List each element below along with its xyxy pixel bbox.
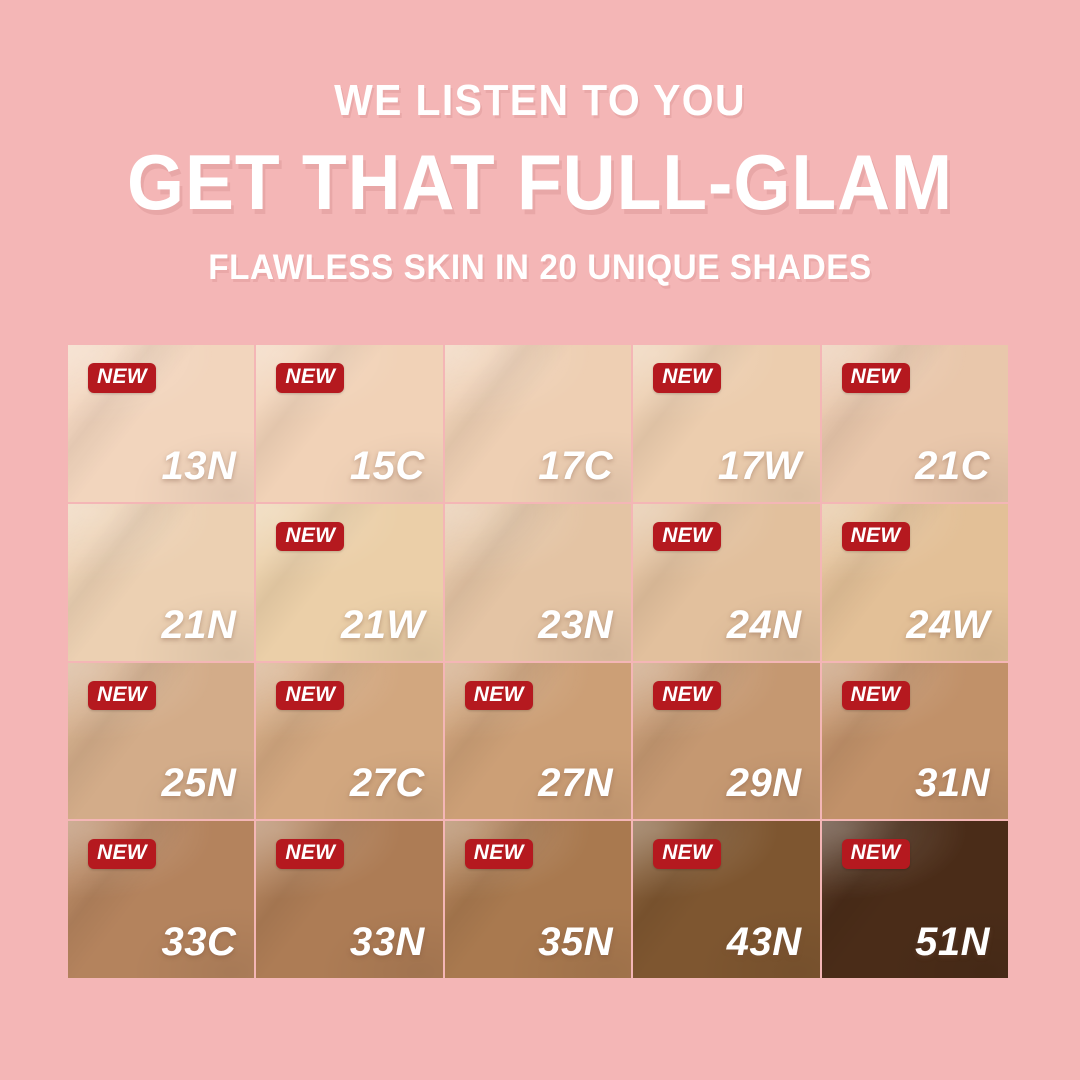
shade-swatch[interactable]: NEW29N <box>633 663 819 820</box>
shade-code-label: 29N <box>727 763 802 803</box>
shade-code-label: 17W <box>718 446 802 486</box>
new-badge: NEW <box>276 681 344 711</box>
new-badge: NEW <box>276 839 344 869</box>
shade-swatch[interactable]: NEW27C <box>256 663 442 820</box>
shade-swatch[interactable]: NEW24W <box>822 504 1008 661</box>
new-badge: NEW <box>465 681 533 711</box>
shade-swatch[interactable]: NEW43N <box>633 821 819 978</box>
shade-code-label: 51N <box>915 922 990 962</box>
shade-code-label: 35N <box>538 922 613 962</box>
shade-code-label: 21N <box>162 605 237 645</box>
page-title: GET THAT FULL-GLAM <box>32 141 1047 224</box>
shade-swatch[interactable]: NEW25N <box>68 663 254 820</box>
shade-code-label: 25N <box>162 763 237 803</box>
shade-swatch[interactable]: NEW51N <box>822 821 1008 978</box>
shade-code-label: 15C <box>350 446 425 486</box>
shade-code-label: 31N <box>915 763 990 803</box>
new-badge: NEW <box>842 681 910 711</box>
shade-swatch[interactable]: NEW31N <box>822 663 1008 820</box>
new-badge: NEW <box>88 839 156 869</box>
shade-swatch[interactable]: NEW17W <box>633 345 819 502</box>
shade-code-label: 21C <box>915 446 990 486</box>
shade-grid: NEW13NNEW15CNEW17CNEW17WNEW21CNEW21NNEW2… <box>68 345 1008 978</box>
new-badge: NEW <box>276 522 344 552</box>
shade-code-label: 33N <box>350 922 425 962</box>
shade-code-label: 43N <box>727 922 802 962</box>
shade-swatch[interactable]: NEW21C <box>822 345 1008 502</box>
shade-code-label: 27C <box>350 763 425 803</box>
shade-swatch[interactable]: NEW24N <box>633 504 819 661</box>
new-badge: NEW <box>88 363 156 393</box>
shade-code-label: 21W <box>341 605 425 645</box>
shade-code-label: 24N <box>727 605 802 645</box>
new-badge: NEW <box>276 363 344 393</box>
heading-block: WE LISTEN TO YOU GET THAT FULL-GLAM FLAW… <box>0 78 1080 286</box>
new-badge: NEW <box>465 839 533 869</box>
new-badge: NEW <box>653 681 721 711</box>
shade-swatch[interactable]: NEW27N <box>445 663 631 820</box>
promo-poster: WE LISTEN TO YOU GET THAT FULL-GLAM FLAW… <box>0 0 1080 1080</box>
shade-swatch[interactable]: NEW35N <box>445 821 631 978</box>
shade-code-label: 13N <box>162 446 237 486</box>
shade-swatch[interactable]: NEW21W <box>256 504 442 661</box>
new-badge: NEW <box>842 522 910 552</box>
shade-swatch[interactable]: NEW33C <box>68 821 254 978</box>
shade-swatch[interactable]: NEW15C <box>256 345 442 502</box>
eyebrow-text: WE LISTEN TO YOU <box>38 78 1042 125</box>
new-badge: NEW <box>653 522 721 552</box>
shade-swatch[interactable]: NEW23N <box>445 504 631 661</box>
shade-code-label: 23N <box>538 605 613 645</box>
shade-swatch[interactable]: NEW21N <box>68 504 254 661</box>
shade-swatch[interactable]: NEW13N <box>68 345 254 502</box>
shade-code-label: 33C <box>162 922 237 962</box>
shade-code-label: 17C <box>538 446 613 486</box>
new-badge: NEW <box>88 681 156 711</box>
new-badge: NEW <box>653 839 721 869</box>
new-badge: NEW <box>842 839 910 869</box>
new-badge: NEW <box>653 363 721 393</box>
shade-swatch[interactable]: NEW17C <box>445 345 631 502</box>
shade-code-label: 27N <box>538 763 613 803</box>
subtitle-text: FLAWLESS SKIN IN 20 UNIQUE SHADES <box>27 249 1053 286</box>
shade-swatch[interactable]: NEW33N <box>256 821 442 978</box>
shade-code-label: 24W <box>906 605 990 645</box>
new-badge: NEW <box>842 363 910 393</box>
